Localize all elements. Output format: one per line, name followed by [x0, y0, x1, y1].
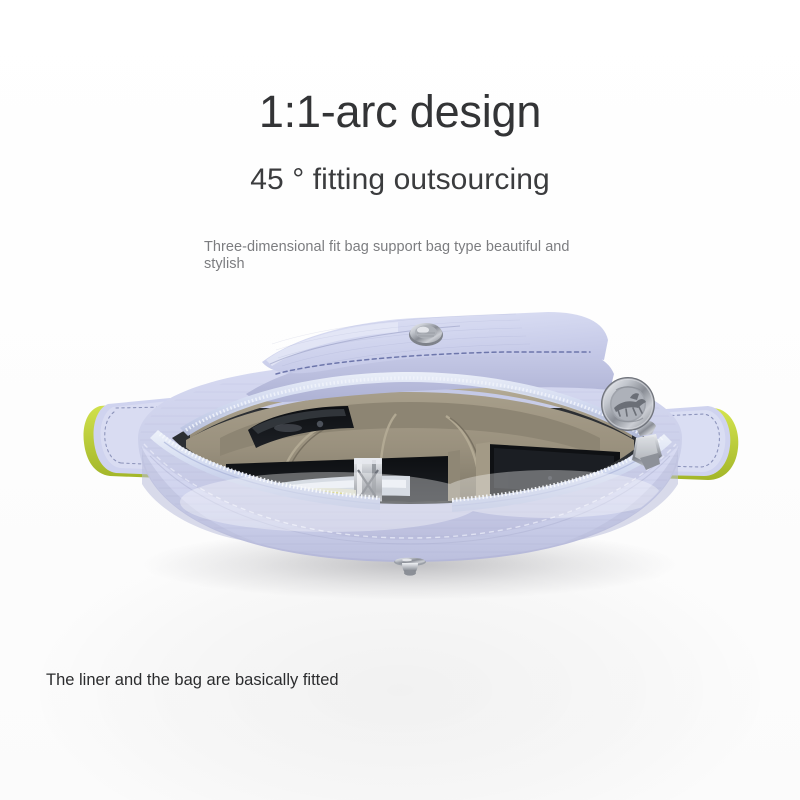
lead-description: Three-dimensional fit bag support bag ty…: [204, 239, 596, 274]
footnote-caption: The liner and the bag are basically fitt…: [46, 670, 376, 691]
product-feature-page: 1:1-arc design 45 ° fitting outsourcing …: [0, 0, 800, 800]
snap-button: [409, 323, 443, 346]
page-title: 1:1-arc design: [0, 88, 800, 137]
page-subtitle: 45 ° fitting outsourcing: [0, 163, 800, 196]
product-photo: [80, 288, 740, 618]
